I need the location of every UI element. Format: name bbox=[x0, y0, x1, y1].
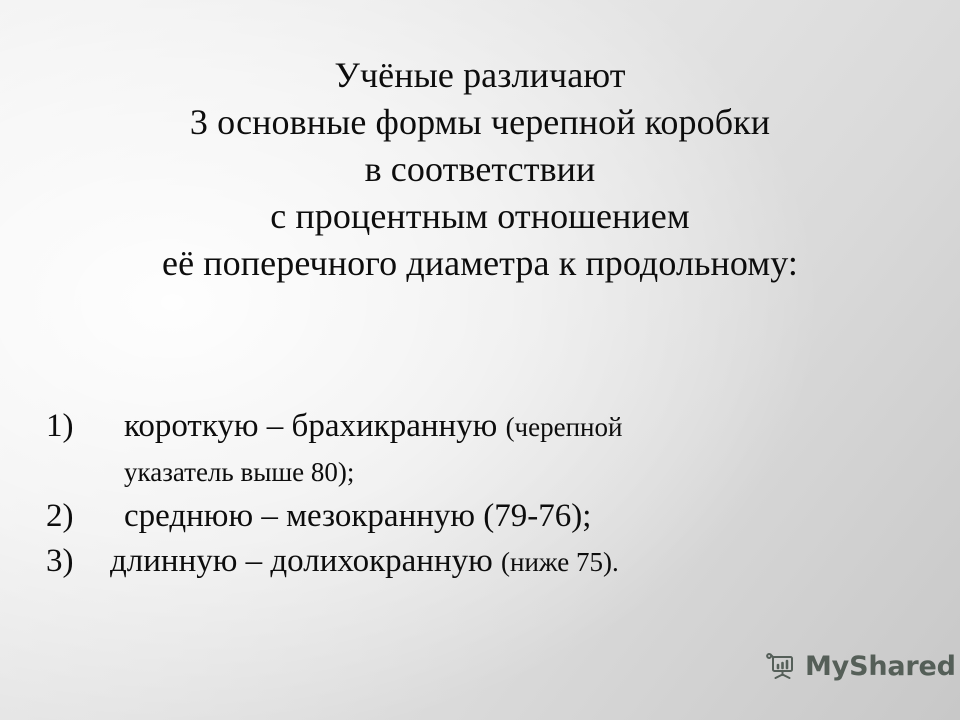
list-item-body: среднюю – мезокранную (79-76); bbox=[46, 494, 936, 539]
list-item-note-text: (черепной bbox=[506, 412, 623, 442]
myshared-watermark: MyShared bbox=[766, 650, 956, 682]
list-item: 2) среднюю – мезокранную (79-76); bbox=[46, 494, 936, 539]
list-item-note-text: (ниже 75). bbox=[501, 547, 619, 577]
heading-block: Учёные различают 3 основные формы черепн… bbox=[0, 52, 960, 287]
list-item: 3) длинную – долихокранную (ниже 75). bbox=[46, 539, 936, 585]
list-item-main-text: среднюю – мезокранную (79-76); bbox=[124, 498, 591, 534]
heading-line-2: 3 основные формы черепной коробки bbox=[0, 99, 960, 146]
list-item-body: длинную – долихокранную (ниже 75). bbox=[46, 539, 936, 585]
list-item-main-text: короткую – брахикранную bbox=[124, 408, 506, 444]
heading-line-3: в соответствии bbox=[0, 146, 960, 193]
heading-line-5: её поперечного диаметра к продольному: bbox=[0, 240, 960, 287]
list-item-marker: 1) bbox=[46, 404, 110, 449]
slide-canvas: Учёные различают 3 основные формы черепн… bbox=[0, 0, 960, 720]
heading-line-1: Учёные различают bbox=[0, 52, 960, 99]
list-item-main-text: длинную – долихокранную bbox=[110, 543, 501, 579]
presentation-chart-icon bbox=[766, 650, 798, 682]
list-item-marker: 3) bbox=[46, 539, 110, 584]
myshared-watermark-label: MyShared bbox=[805, 653, 956, 680]
heading-line-4: с процентным отношением bbox=[0, 193, 960, 240]
list-item-marker: 2) bbox=[46, 494, 110, 539]
list-item-continuation: указатель выше 80); bbox=[46, 450, 936, 494]
numbered-list: 1) короткую – брахикранную (черепной ука… bbox=[46, 404, 936, 585]
list-item-body: короткую – брахикранную (черепной bbox=[46, 404, 936, 450]
list-item: 1) короткую – брахикранную (черепной ука… bbox=[46, 404, 936, 494]
